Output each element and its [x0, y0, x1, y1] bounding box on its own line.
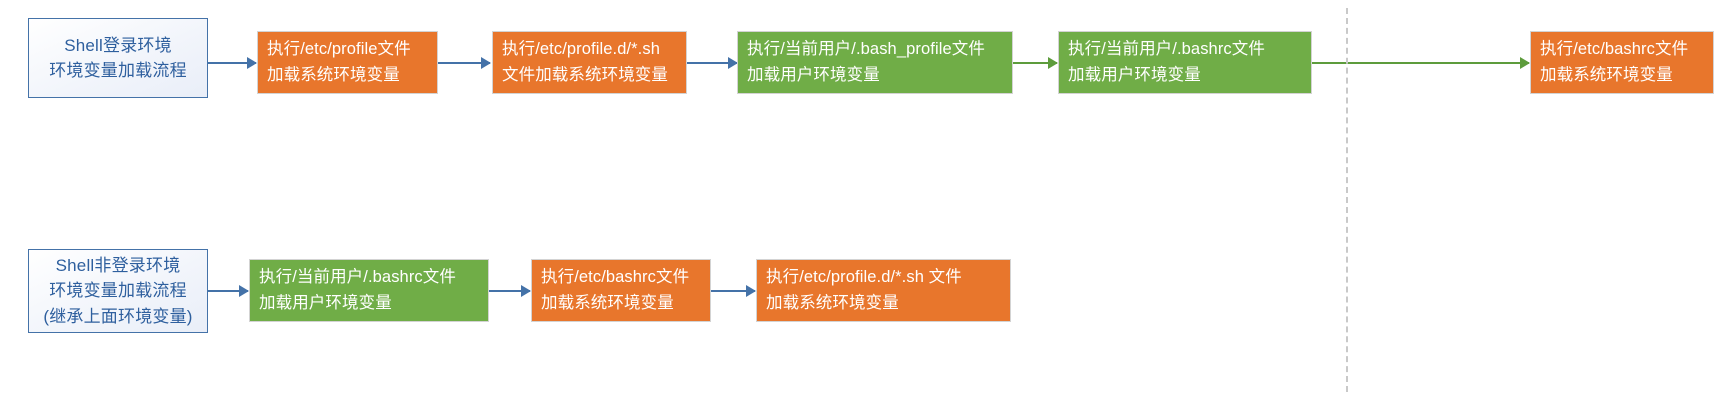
arrow-login-3 [1013, 62, 1057, 64]
section-divider [1346, 8, 1348, 392]
step-etc-profile[interactable]: 执行/etc/profile文件 加载系统环境变量 [257, 31, 438, 94]
step-nl-etc-profile-d[interactable]: 执行/etc/profile.d/*.sh 文件 加载系统环境变量 [756, 259, 1011, 322]
step-line-2: 文件加载系统环境变量 [502, 63, 668, 89]
step-nl-user-bashrc[interactable]: 执行/当前用户/.bashrc文件 加载用户环境变量 [249, 259, 489, 322]
step-line-1: 执行/当前用户/.bash_profile文件 [747, 37, 985, 63]
step-line-1: 执行/etc/bashrc文件 [541, 265, 689, 291]
arrow-head-icon [746, 285, 756, 297]
step-etc-profile-d[interactable]: 执行/etc/profile.d/*.sh 文件加载系统环境变量 [492, 31, 687, 94]
step-line-2: 加载系统环境变量 [541, 291, 674, 317]
step-line-1: 执行/etc/profile文件 [267, 37, 411, 63]
arrow-head-icon [481, 57, 491, 69]
diagram-canvas: Shell登录环境 环境变量加载流程 执行/etc/profile文件 加载系统… [0, 0, 1729, 400]
step-line-2: 加载用户环境变量 [259, 291, 392, 317]
start-label-nonlogin-line-1: Shell非登录环境 [56, 253, 181, 279]
step-etc-bashrc[interactable]: 执行/etc/bashrc文件 加载系统环境变量 [1530, 31, 1714, 94]
start-label-nonlogin-line-2: 环境变量加载流程 [49, 278, 187, 304]
step-line-2: 加载系统环境变量 [1540, 63, 1673, 89]
arrow-nonlogin-2 [711, 290, 755, 292]
step-line-2: 加载系统环境变量 [766, 291, 899, 317]
arrow-shaft [1312, 62, 1529, 64]
arrow-login-1 [438, 62, 490, 64]
arrow-head-icon [521, 285, 531, 297]
step-user-bash-profile[interactable]: 执行/当前用户/.bash_profile文件 加载用户环境变量 [737, 31, 1013, 94]
arrow-head-icon [239, 285, 249, 297]
arrow-head-icon [1048, 57, 1058, 69]
start-label-nonlogin-line-3: (继承上面环境变量) [43, 304, 192, 330]
arrow-login-4 [1312, 62, 1529, 64]
arrow-head-icon [247, 57, 257, 69]
arrow-login-0 [208, 62, 256, 64]
arrow-nonlogin-1 [489, 290, 530, 292]
arrow-nonlogin-0 [208, 290, 248, 292]
step-user-bashrc[interactable]: 执行/当前用户/.bashrc文件 加载用户环境变量 [1058, 31, 1312, 94]
step-line-1: 执行/etc/profile.d/*.sh [502, 37, 660, 63]
step-line-1: 执行/当前用户/.bashrc文件 [1068, 37, 1265, 63]
arrow-login-2 [687, 62, 737, 64]
start-label-login-line-1: Shell登录环境 [64, 33, 172, 59]
step-line-1: 执行/etc/bashrc文件 [1540, 37, 1688, 63]
start-label-non-login-flow: Shell非登录环境 环境变量加载流程 (继承上面环境变量) [28, 249, 208, 333]
step-line-1: 执行/etc/profile.d/*.sh 文件 [766, 265, 962, 291]
step-line-1: 执行/当前用户/.bashrc文件 [259, 265, 456, 291]
step-line-2: 加载用户环境变量 [1068, 63, 1201, 89]
step-nl-etc-bashrc[interactable]: 执行/etc/bashrc文件 加载系统环境变量 [531, 259, 711, 322]
start-label-login-line-2: 环境变量加载流程 [49, 58, 187, 84]
arrow-head-icon [1520, 57, 1530, 69]
start-label-login-flow: Shell登录环境 环境变量加载流程 [28, 18, 208, 98]
step-line-2: 加载系统环境变量 [267, 63, 400, 89]
step-line-2: 加载用户环境变量 [747, 63, 880, 89]
